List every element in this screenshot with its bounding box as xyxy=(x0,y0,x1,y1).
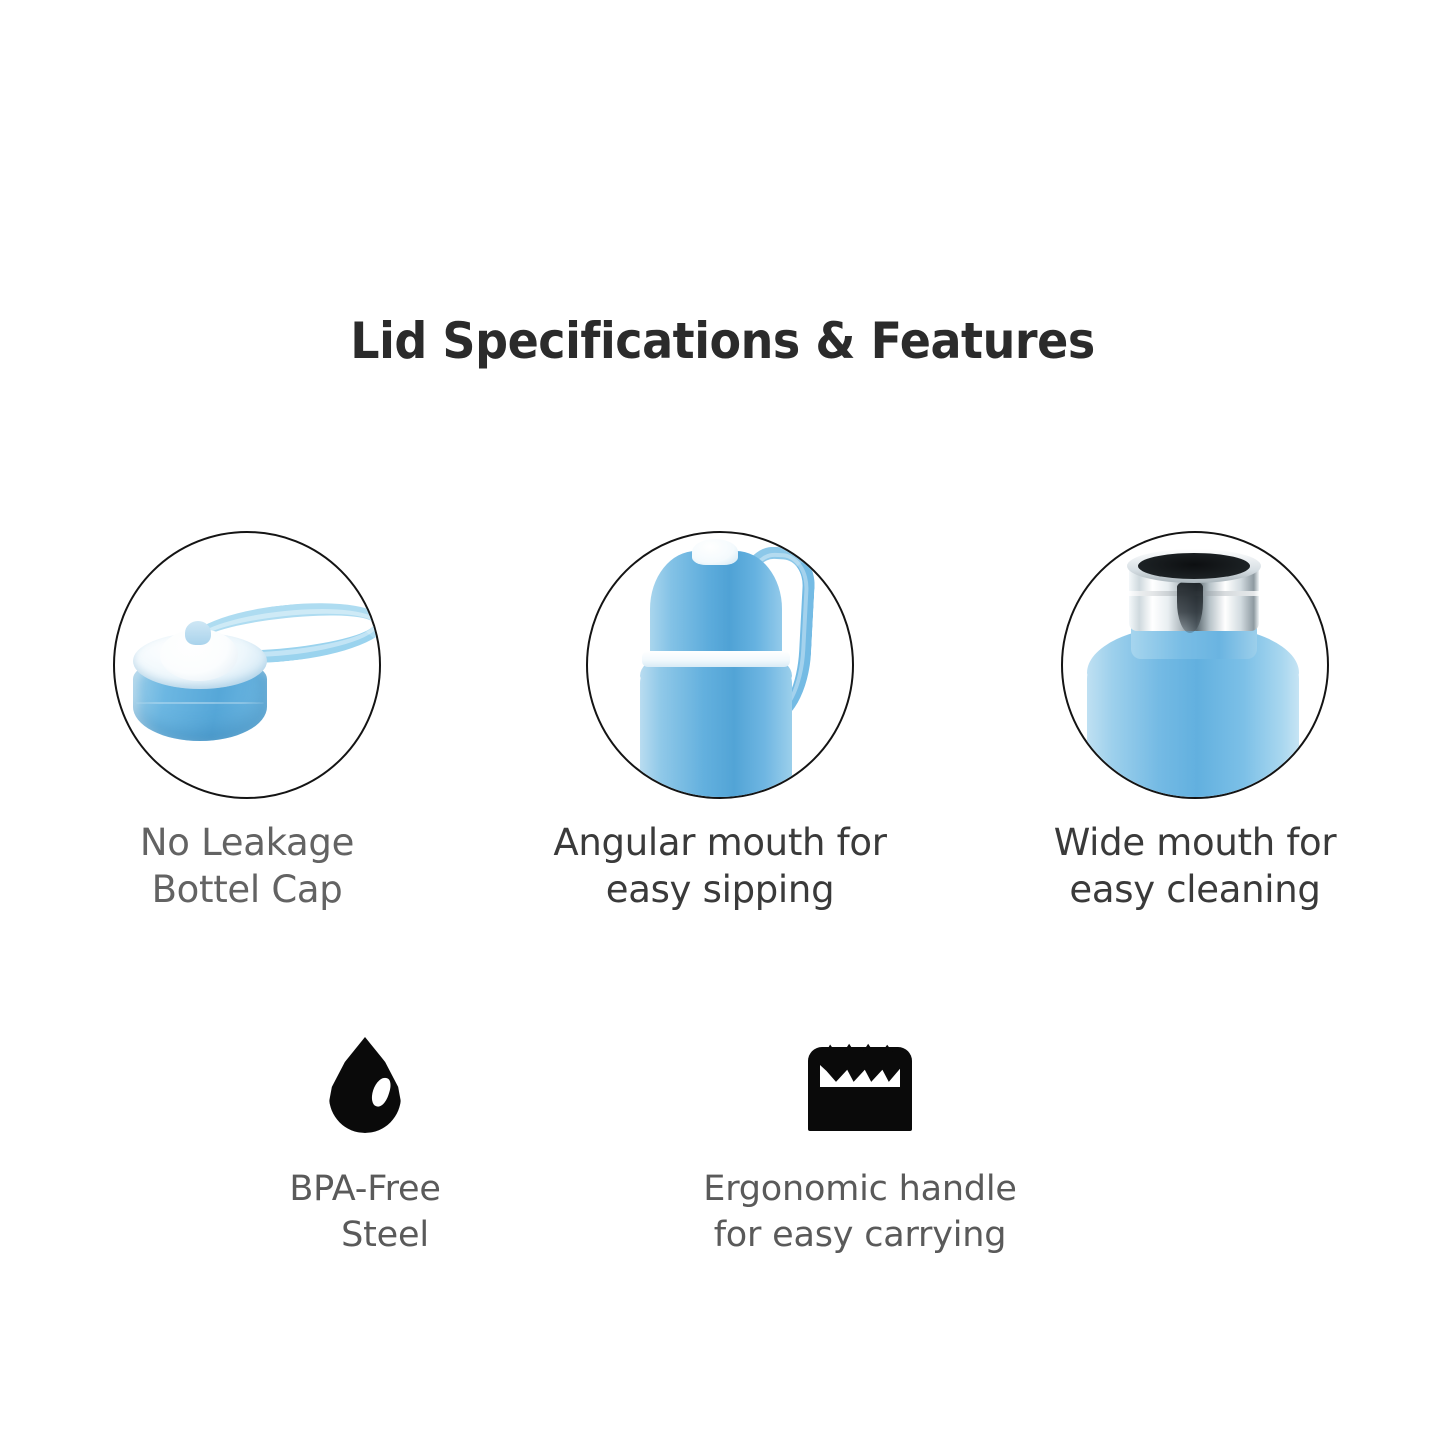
bottle-with-cap-on-photo xyxy=(586,531,854,799)
caption-line-1: No Leakage xyxy=(140,821,354,864)
bottle-open-steel-mouth-photo xyxy=(1061,531,1329,799)
feature-ergonomic-handle: Ergonomic handle for easy carrying xyxy=(660,1025,1060,1258)
feature-caption: No Leakage Bottel Cap xyxy=(47,819,447,914)
icon-feature-row: BPA-Free Steel Ergonomic handle for easy… xyxy=(0,1025,1445,1325)
bottle-angular-spout xyxy=(692,539,738,565)
feature-bpa-free-steel: BPA-Free Steel xyxy=(165,1025,565,1258)
bottle-open-illustration xyxy=(1063,533,1327,797)
feature-caption: Angular mouth for easy sipping xyxy=(520,819,920,914)
bottle-illustration xyxy=(588,533,852,797)
bottle-cap-with-strap-photo xyxy=(113,531,381,799)
cap-strap-anchor xyxy=(185,621,211,645)
hand-grip-handle-icon xyxy=(808,1039,912,1131)
bottle-cap-seam-ring xyxy=(642,651,790,667)
caption-line-1: BPA-Free xyxy=(289,1169,440,1209)
caption-line-2: Steel xyxy=(165,1213,565,1259)
caption-line-2: Bottel Cap xyxy=(152,868,343,911)
feature-wide-mouth: Wide mouth for easy cleaning xyxy=(995,531,1395,914)
grip-body-shape xyxy=(808,1047,912,1131)
icon-feature-caption: BPA-Free Steel xyxy=(165,1167,565,1258)
caption-line-1: Angular mouth for xyxy=(553,821,886,864)
cap-illustration xyxy=(115,533,379,797)
product-infographic: Lid Specifications & Features No Leakage… xyxy=(0,0,1445,1445)
caption-line-1: Wide mouth for xyxy=(1054,821,1337,864)
feature-no-leakage-cap: No Leakage Bottel Cap xyxy=(47,531,447,914)
bottle-mouth-opening xyxy=(1138,553,1250,579)
icon-feature-caption: Ergonomic handle for easy carrying xyxy=(660,1167,1060,1258)
icon-container xyxy=(660,1025,1060,1145)
feature-angular-mouth: Angular mouth for easy sipping xyxy=(520,531,920,914)
caption-line-2: easy sipping xyxy=(606,868,835,911)
caption-line-1: Ergonomic handle xyxy=(703,1169,1016,1209)
feature-caption: Wide mouth for easy cleaning xyxy=(995,819,1395,914)
water-drop-icon xyxy=(329,1037,401,1133)
caption-line-2: for easy carrying xyxy=(714,1215,1007,1255)
feature-circle-row: No Leakage Bottel Cap Angular mouth for xyxy=(0,531,1445,931)
page-title: Lid Specifications & Features xyxy=(58,312,1387,370)
caption-line-2: easy cleaning xyxy=(1069,868,1320,911)
icon-container xyxy=(165,1025,565,1145)
bottle-cap xyxy=(650,551,782,663)
